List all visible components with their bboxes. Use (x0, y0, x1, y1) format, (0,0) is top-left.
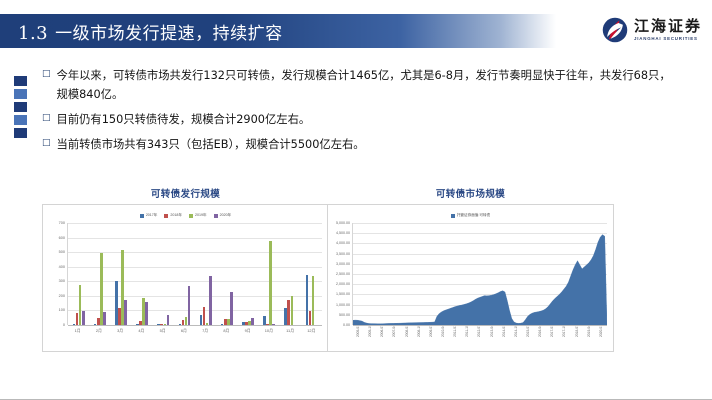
bullet-text: 目前仍有150只转债待发，规模合计2900亿左右。 (57, 110, 311, 129)
y-tick-label: 2,000.00 (336, 282, 350, 286)
x-tick-label: 8月 (216, 326, 237, 341)
y-tick-label: 0 (63, 323, 65, 327)
legend-swatch-icon (189, 214, 193, 218)
page-title: 1.3一级市场发行提速，持续扩容 (0, 19, 283, 44)
legend-item: 2019年 (189, 213, 207, 218)
x-tick-slot: 2017-10 (558, 326, 570, 341)
x-tick-label: 2014-10 (514, 326, 518, 337)
bar-group (110, 223, 131, 325)
bar (103, 312, 106, 325)
bar-group (301, 223, 322, 325)
x-tick-slot: 2010-04 (437, 326, 449, 341)
x-tick-slot: 2020-01 (595, 326, 607, 341)
x-tick-label: 2008-01 (405, 326, 409, 337)
y-tick-label: 2,500.00 (336, 272, 350, 276)
x-tick-label: 6月 (173, 326, 194, 341)
logo-name-en: JIANGHAI SECURITIES (634, 37, 702, 41)
content-body: □ 今年以来，可转债市场共发行132只可转债，发行规模合计1465亿，尤其是6-… (0, 66, 712, 160)
y-tick-label: 300 (59, 279, 65, 283)
x-tick-label: 2020-01 (599, 326, 603, 337)
y-tick-label: 700 (59, 221, 65, 225)
legend-swatch-icon (164, 214, 168, 218)
x-tick-label: 2011-01 (453, 326, 457, 337)
bar-group (216, 223, 237, 325)
bar-group (153, 223, 174, 325)
legend-item: 2018年 (164, 213, 182, 218)
y-tick-label: 600 (59, 236, 65, 240)
x-tick-label: 2018-07 (575, 326, 579, 337)
slide-header-bar: 1.3一级市场发行提速，持续扩容 (0, 14, 556, 48)
chart-issuance-scale: 可转债发行规模 2017年2018年2019年2020年 01002003004… (42, 186, 329, 352)
decor-square (14, 102, 27, 112)
list-item: □ 当前转债市场共有343只（包括EB），规模合计5500亿左右。 (42, 135, 678, 154)
chart-title: 可转债发行规模 (42, 186, 329, 200)
list-item: □ 今年以来，可转债市场共发行132只可转债，发行规模合计1465亿，尤其是6-… (42, 66, 678, 104)
x-tick-slot: 2018-07 (571, 326, 583, 341)
bar-series-group (68, 223, 322, 325)
bar (188, 286, 191, 325)
bar-group (195, 223, 216, 325)
x-tick-label: 2009-07 (429, 326, 433, 337)
legend-label: 2019年 (195, 213, 207, 218)
bullet-text: 当前转债市场共有343只（包括EB），规模合计5500亿左右。 (57, 135, 365, 154)
y-tick-label: 3,000.00 (336, 262, 350, 266)
bar (312, 276, 315, 325)
x-tick-slot: 2015-07 (522, 326, 534, 341)
legend-swatch-icon (214, 214, 218, 218)
legend-label: 2020年 (220, 213, 232, 218)
x-tick-slot: 2005-01 (352, 326, 364, 341)
x-tick-slot: 2008-10 (413, 326, 425, 341)
y-axis: 0100200300400500600700 (47, 223, 67, 325)
x-tick-label: 2012-07 (477, 326, 481, 337)
y-tick-label: 3,500.00 (336, 252, 350, 256)
x-tick-slot: 2014-01 (498, 326, 510, 341)
x-tick-label: 2005-10 (368, 326, 372, 337)
x-tick-label: 2005-01 (356, 326, 360, 337)
bar (230, 292, 233, 325)
bar-group (89, 223, 110, 325)
chart-title: 可转债市场规模 (327, 186, 614, 200)
x-tick-label: 2016-04 (538, 326, 542, 337)
bar-group (259, 223, 280, 325)
chart-market-scale: 可转债市场规模 托管证券面值:可转债 0.00500.001,000.001,5… (327, 186, 614, 352)
decor-square (14, 128, 27, 138)
bar-group (68, 223, 89, 325)
charts-row: 可转债发行规模 2017年2018年2019年2020年 01002003004… (0, 186, 712, 366)
x-tick-label: 2017-10 (562, 326, 566, 337)
company-logo: 江海证券 JIANGHAI SECURITIES (601, 16, 702, 44)
y-tick-label: 500 (59, 250, 65, 254)
x-tick-slot: 2014-10 (510, 326, 522, 341)
bullet-square-icon: □ (42, 66, 51, 83)
section-number: 1.3 (18, 23, 48, 44)
y-tick-label: 4,000.00 (336, 241, 350, 245)
x-tick-slot: 2016-04 (534, 326, 546, 341)
x-tick-slot: 2013-04 (486, 326, 498, 341)
y-tick-label: 400 (59, 265, 65, 269)
x-tick-slot: 2012-07 (473, 326, 485, 341)
chart-frame: 托管证券面值:可转债 0.00500.001,000.001,500.002,0… (327, 204, 614, 352)
x-tick-slot: 2011-01 (449, 326, 461, 341)
bar (251, 318, 254, 325)
slide-root: 1.3一级市场发行提速，持续扩容 江海证券 JIANGHAI SECURITIE… (0, 0, 712, 400)
x-tick-label: 4月 (131, 326, 152, 341)
bar-group (132, 223, 153, 325)
bullet-square-icon: □ (42, 110, 51, 127)
x-tick-slot: 2019-04 (583, 326, 595, 341)
x-tick-label: 2015-07 (526, 326, 530, 337)
legend-label: 2018年 (170, 213, 182, 218)
y-axis: 0.00500.001,000.001,500.002,000.002,500.… (332, 223, 352, 325)
section-title: 一级市场发行提速，持续扩容 (55, 24, 283, 44)
x-axis: 2005-012005-102006-072007-042008-012008-… (352, 326, 607, 341)
legend-item: 2017年 (140, 213, 158, 218)
x-tick-slot: 2007-04 (388, 326, 400, 341)
legend-item: 托管证券面值:可转债 (451, 213, 490, 218)
x-tick-label: 3月 (110, 326, 131, 341)
bar (209, 276, 212, 325)
chart-legend: 2017年2018年2019年2020年 (47, 210, 324, 221)
x-tick-label: 2010-04 (441, 326, 445, 337)
x-tick-label: 2007-04 (392, 326, 396, 337)
logo-name-cn: 江海证券 (634, 19, 702, 34)
y-tick-label: 4,500.00 (336, 231, 350, 235)
area-series (353, 223, 607, 325)
y-tick-label: 1,500.00 (336, 292, 350, 296)
chart-plot-area: 0.00500.001,000.001,500.002,000.002,500.… (332, 223, 609, 341)
bar-group (237, 223, 258, 325)
x-tick-slot: 2006-07 (376, 326, 388, 341)
x-tick-label: 9月 (237, 326, 258, 341)
bar (291, 296, 294, 325)
bullet-list: □ 今年以来，可转债市场共发行132只可转债，发行规模合计1465亿，尤其是6-… (42, 66, 678, 154)
x-tick-label: 2017-01 (550, 326, 554, 337)
chart-frame: 2017年2018年2019年2020年 0100200300400500600… (42, 204, 329, 352)
bar-group (280, 223, 301, 325)
x-tick-label: 5月 (152, 326, 173, 341)
decor-square (14, 89, 27, 99)
x-tick-slot: 2011-10 (461, 326, 473, 341)
x-tick-slot: 2008-01 (401, 326, 413, 341)
x-tick-label: 2月 (88, 326, 109, 341)
x-tick-label: 2006-07 (380, 326, 384, 337)
x-tick-slot: 2009-07 (425, 326, 437, 341)
legend-item: 2020年 (214, 213, 232, 218)
bar (269, 241, 272, 325)
bar (124, 300, 127, 325)
legend-label: 2017年 (146, 213, 158, 218)
legend-label: 托管证券面值:可转债 (457, 213, 490, 218)
jianghai-swoosh-icon (601, 16, 629, 44)
grid-area (352, 223, 607, 325)
x-tick-label: 12月 (301, 326, 322, 341)
bullet-text: 今年以来，可转债市场共发行132只可转债，发行规模合计1465亿，尤其是6-8月… (57, 66, 678, 104)
y-tick-label: 200 (59, 294, 65, 298)
x-tick-label: 1月 (67, 326, 88, 341)
bar (145, 302, 148, 325)
bar (272, 324, 275, 325)
bar (82, 311, 85, 325)
y-tick-label: 0.00 (343, 323, 350, 327)
x-tick-label: 11月 (280, 326, 301, 341)
decor-square (14, 76, 27, 86)
chart-plot-area: 0100200300400500600700 1月2月3月4月5月6月7月8月9… (47, 223, 324, 341)
bullet-square-icon: □ (42, 135, 51, 152)
x-tick-slot: 2005-10 (364, 326, 376, 341)
x-tick-label: 2011-10 (465, 326, 469, 337)
y-tick-label: 1,000.00 (336, 303, 350, 307)
bar (167, 315, 170, 325)
list-item: □ 目前仍有150只转债待发，规模合计2900亿左右。 (42, 110, 678, 129)
chart-legend: 托管证券面值:可转债 (332, 210, 609, 221)
x-axis: 1月2月3月4月5月6月7月8月9月10月11月12月 (67, 326, 322, 341)
x-tick-label: 2008-10 (417, 326, 421, 337)
y-tick-label: 100 (59, 308, 65, 312)
y-tick-label: 500.00 (339, 313, 350, 317)
decor-square (14, 115, 27, 125)
x-tick-label: 10月 (258, 326, 279, 341)
x-tick-label: 2019-04 (587, 326, 591, 337)
logo-text: 江海证券 JIANGHAI SECURITIES (634, 19, 702, 41)
legend-swatch-icon (451, 214, 455, 218)
decorative-squares (14, 76, 27, 138)
x-tick-label: 7月 (195, 326, 216, 341)
x-tick-slot: 2017-01 (546, 326, 558, 341)
y-tick-label: 5,000.00 (336, 221, 350, 225)
x-tick-label: 2014-01 (502, 326, 506, 337)
x-tick-label: 2013-04 (490, 326, 494, 337)
legend-swatch-icon (140, 214, 144, 218)
bar-group (174, 223, 195, 325)
grid-area (67, 223, 322, 325)
